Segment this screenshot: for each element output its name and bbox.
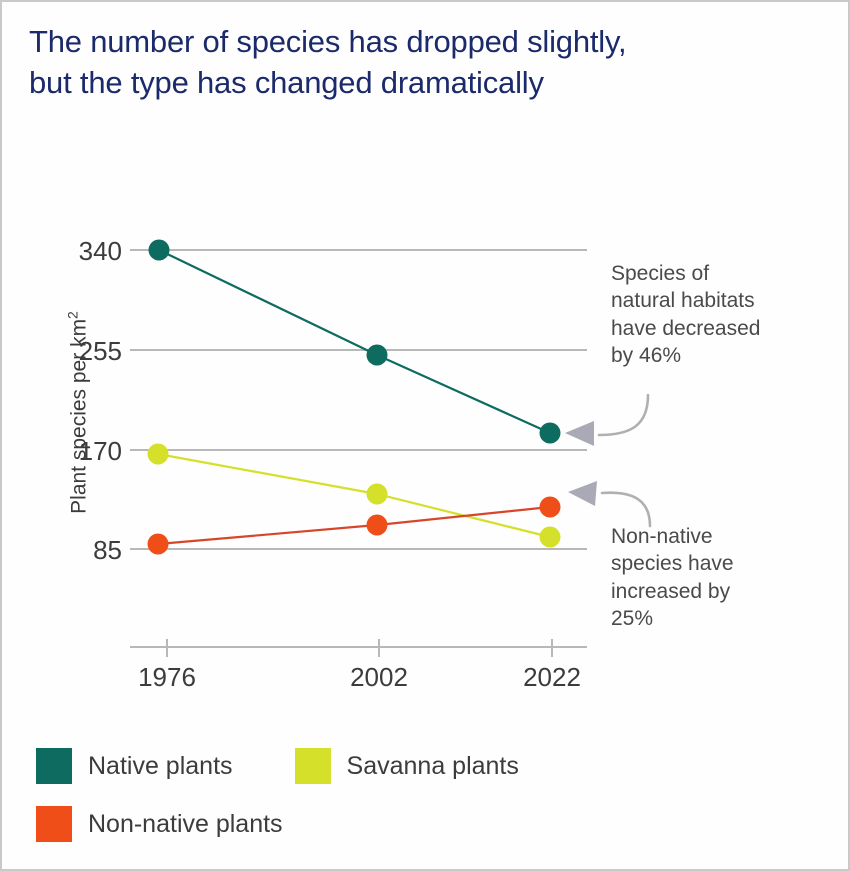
series-native-plants [149,240,561,444]
annotation-nonnative-line-4: 25% [611,605,817,632]
legend-item-non-native-plants[interactable]: Non-native plants [36,806,283,842]
y-tick-label-340: 340 [44,238,122,264]
annotation-native-habitats: Species of natural habitats have decreas… [611,260,837,369]
legend-swatch-savanna-icon [295,748,331,784]
x-tick-label-2022: 2022 [492,664,612,690]
data-point-native-2002 [367,345,388,366]
data-point-nonnative-2022 [540,497,561,518]
series-non-native-plants [148,497,561,555]
chart-legend: Native plants Savanna plants Non-native … [36,737,736,853]
y-axis-title-text: Plant species per km [68,319,91,514]
legend-swatch-non-native-icon [36,806,72,842]
data-point-savanna-2022 [540,527,561,548]
legend-label-non-native-plants: Non-native plants [88,810,283,839]
annotation-nonnative-line-3: increased by [611,578,817,605]
callout-arrow-nonnative [568,481,650,526]
data-point-savanna-2002 [367,484,388,505]
annotation-native-line-4: by 46% [611,342,837,369]
series-savanna-plants [148,444,561,548]
annotation-native-line-2: natural habitats [611,287,837,314]
data-point-native-2022 [540,423,561,444]
legend-row-2: Non-native plants [36,795,736,853]
legend-label-native-plants: Native plants [88,752,233,781]
legend-item-savanna-plants[interactable]: Savanna plants [295,748,519,784]
x-tick-label-1976: 1976 [107,664,227,690]
legend-swatch-native-icon [36,748,72,784]
y-axis-title: Plant species per km2 [65,263,92,563]
data-point-nonnative-1976 [148,534,169,555]
annotation-non-native-species: Non-native species have increased by 25% [611,523,817,632]
legend-row-1: Native plants Savanna plants [36,737,736,795]
annotation-native-line-3: have decreased [611,315,837,342]
chart-page: The number of species has dropped slight… [0,0,850,871]
callout-arrow-native [565,395,648,446]
annotation-nonnative-line-2: species have [611,550,817,577]
legend-item-native-plants[interactable]: Native plants [36,748,233,784]
x-tick-label-2002: 2002 [319,664,439,690]
data-point-nonnative-2002 [367,515,388,536]
gridlines [130,250,587,549]
x-axis [130,639,587,657]
data-point-native-1976 [149,240,170,261]
y-axis-title-superscript: 2 [65,311,81,319]
annotation-nonnative-line-1: Non-native [611,523,817,550]
data-point-savanna-1976 [148,444,169,465]
annotation-native-line-1: Species of [611,260,837,287]
legend-label-savanna-plants: Savanna plants [347,752,519,781]
